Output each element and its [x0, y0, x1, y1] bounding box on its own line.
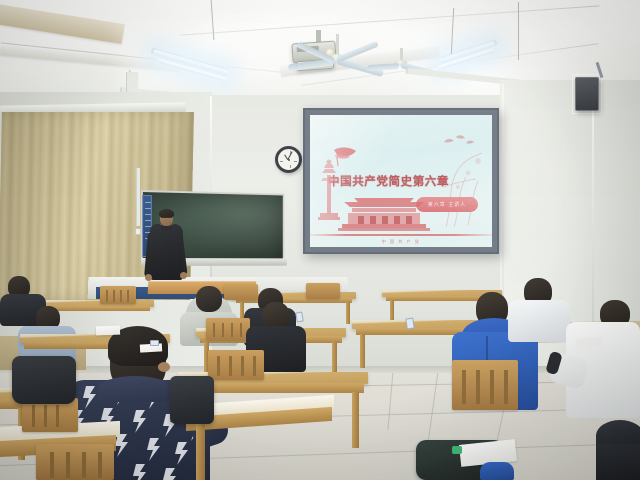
student-lightning-hoodie-hood	[98, 376, 172, 402]
teacher-torso	[150, 224, 183, 280]
wall-clock	[275, 146, 302, 173]
teacher-hand	[145, 274, 152, 281]
student-grey-hoodie-head	[196, 286, 222, 312]
desk-leg	[390, 300, 394, 322]
chair-slat	[82, 452, 86, 478]
chair-slat	[50, 452, 54, 478]
chair-slat	[213, 323, 215, 337]
floor-tile-line	[387, 370, 393, 430]
sign-text-line	[145, 220, 151, 221]
chair-row1[interactable]	[100, 286, 136, 304]
chair-row1[interactable]	[306, 283, 340, 299]
chair-row4-front[interactable]	[36, 444, 114, 480]
chair-slat	[44, 405, 47, 427]
paper-sheet[interactable]	[96, 326, 120, 336]
chair-slat	[241, 356, 244, 376]
student-phone[interactable]	[405, 317, 414, 329]
wall-speaker-right	[575, 77, 599, 111]
student-cap-body	[596, 444, 640, 480]
chair-row2[interactable]	[206, 318, 250, 340]
chair-slat	[476, 370, 480, 404]
chair-slat	[120, 290, 122, 302]
slide-footer: 中 国 共 产 党	[310, 239, 492, 245]
chair-slat	[229, 356, 232, 376]
teacher-glasses-icon	[161, 217, 172, 220]
projection-screen-frame: 中国共产党简史第六章 第六章 主讲人	[303, 108, 499, 254]
student-phone[interactable]	[295, 311, 304, 322]
cap-blue	[480, 462, 514, 480]
backpack-left[interactable]	[12, 356, 76, 404]
sign-text-line	[145, 202, 151, 203]
desk-leg	[352, 392, 359, 448]
clock-tick	[294, 161, 297, 162]
projection-screen: 中国共产党简史第六章 第六章 主讲人	[310, 115, 492, 247]
sticker-green	[452, 446, 462, 454]
desk-leg	[196, 424, 205, 480]
ceiling-beam	[0, 4, 125, 44]
desk-leg	[346, 302, 350, 324]
chair-slat	[56, 405, 59, 427]
ceiling-fan-rod	[336, 34, 339, 56]
desk-leg	[360, 334, 365, 368]
chair-slat	[222, 323, 224, 337]
backpack-center[interactable]	[170, 376, 214, 424]
notebook[interactable]	[576, 337, 603, 349]
chair-slat	[217, 356, 220, 376]
slide-side-illustration	[438, 147, 490, 229]
student-lightning-hoodie-ear	[158, 362, 170, 372]
chair-slat	[462, 370, 466, 404]
desk-leg	[332, 342, 337, 372]
chair-slat	[32, 405, 35, 427]
sign-text-line	[145, 214, 151, 215]
chair-row3[interactable]	[208, 350, 264, 380]
student-phone[interactable]	[150, 340, 159, 346]
chair-slat	[113, 290, 115, 302]
student-white-shirt-back	[508, 300, 570, 342]
tiananmen-gate-icon	[332, 193, 436, 231]
classroom-scene: 中国共产党简史第六章 第六章 主讲人	[0, 0, 640, 480]
chair-slat	[504, 370, 508, 404]
wall-conduit	[136, 168, 140, 226]
chair-row3-right[interactable]	[452, 360, 518, 410]
ceiling-duct-drop	[126, 72, 138, 94]
chair-row1[interactable]	[224, 284, 258, 300]
chair-slat	[98, 452, 102, 478]
chair-slat	[231, 323, 233, 337]
chair-slat	[240, 323, 242, 337]
chair-slat	[66, 452, 70, 478]
clock-tick	[290, 165, 291, 168]
teacher-hand	[180, 272, 187, 279]
chair-slat	[490, 370, 494, 404]
chair-slat	[127, 290, 129, 302]
chair-slat	[253, 356, 256, 376]
clock-center	[288, 159, 290, 161]
slide-baseline	[310, 234, 492, 236]
sign-text-line	[145, 208, 151, 209]
ceiling-wire	[518, 2, 519, 60]
chair-slat	[106, 290, 108, 302]
clock-tick	[280, 161, 283, 162]
